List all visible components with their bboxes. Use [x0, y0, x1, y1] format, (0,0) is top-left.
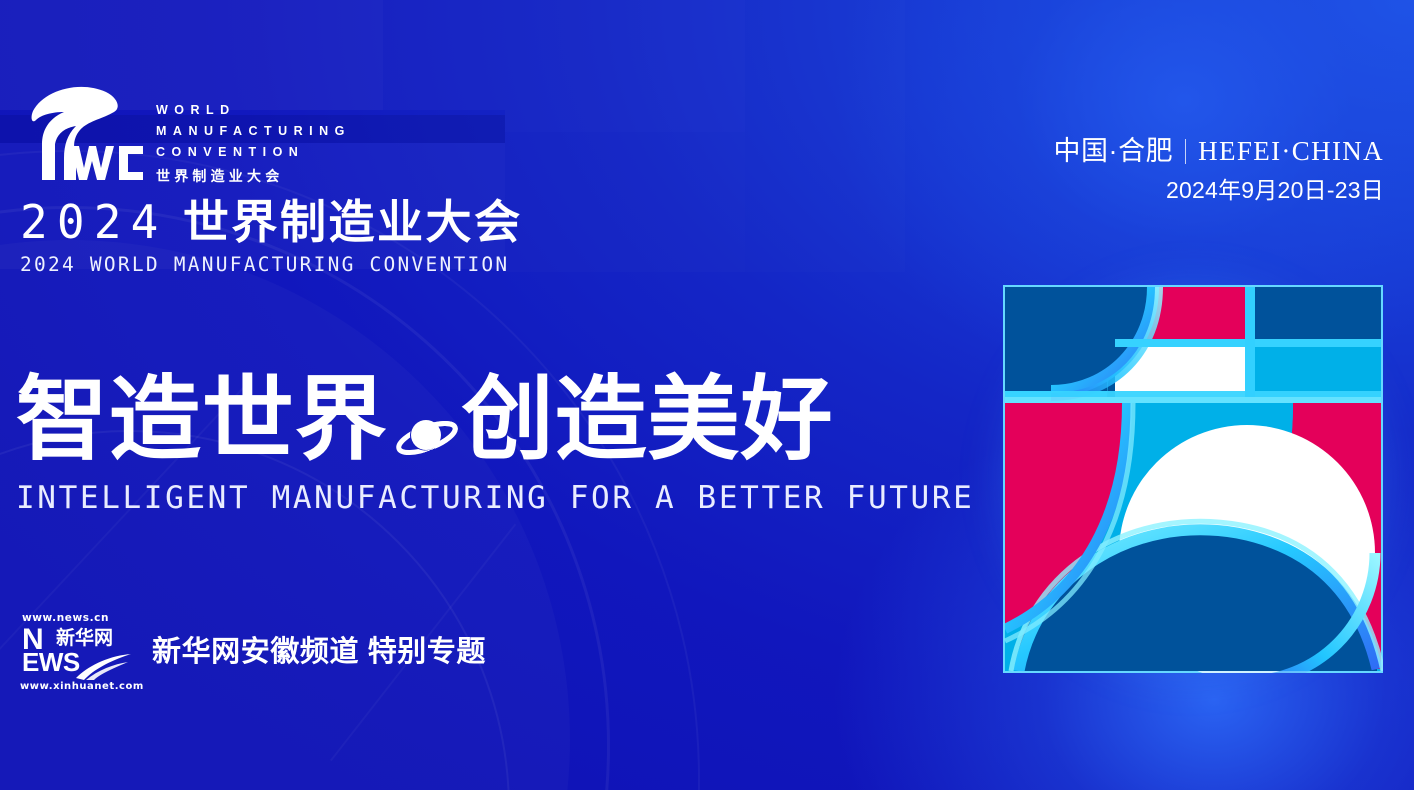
wmc-line-cn: 世界制造业大会 — [156, 163, 351, 187]
wmc-logo-lockup: WORLD MANUFACTURING CONVENTION 世界制造业大会 — [24, 84, 351, 187]
wmc-line-world: WORLD — [156, 100, 351, 121]
venue-city-en: HEFEI·CHINA — [1198, 136, 1384, 166]
bg-block-4 — [505, 0, 745, 132]
event-date: 2024年9月20日-23日 — [1053, 175, 1384, 205]
bg-block-2 — [383, 0, 505, 110]
xinhua-news-logo-icon: www.news.cn N EWS 新华网 www.xinhuanet.com — [20, 612, 130, 692]
xinhua-logo-core: N EWS 新华网 — [20, 626, 130, 676]
slogan-cn-right: 创造美好 — [462, 368, 834, 472]
poster-banner: WORLD MANUFACTURING CONVENTION 世界制造业大会 2… — [0, 0, 1414, 790]
event-title-en: 2024 WORLD MANUFACTURING CONVENTION — [20, 252, 523, 278]
event-year: 2024 — [20, 195, 168, 249]
planet-icon — [394, 387, 460, 453]
bg-block-7 — [745, 0, 905, 272]
wmc-line-convention: CONVENTION — [156, 142, 351, 163]
venue-date-block: 中国·合肥HEFEI·CHINA 2024年9月20日-23日 — [1053, 134, 1384, 205]
wmc-bird-logo-icon — [24, 84, 146, 184]
slogan-en: INTELLIGENT MANUFACTURING FOR A BETTER F… — [16, 478, 974, 518]
xinhua-url-bottom: www.xinhuanet.com — [20, 681, 144, 692]
venue-divider — [1185, 139, 1186, 164]
slogan-block: 智造世界 创造美好 INTELLIGENT MANUFACTURING FOR … — [16, 368, 974, 518]
slogan-cn: 智造世界 创造美好 — [16, 368, 974, 472]
wmc-geometric-emblem — [978, 258, 1408, 698]
xinhua-cn-name: 新华网 — [56, 628, 113, 649]
event-title-cn: 世界制造业大会 — [183, 196, 523, 248]
wmc-wordmark: WORLD MANUFACTURING CONVENTION 世界制造业大会 — [156, 84, 351, 187]
venue-line: 中国·合肥HEFEI·CHINA — [1053, 134, 1384, 168]
emblem-artwork — [1003, 285, 1383, 673]
xinhua-swoosh-icon — [76, 654, 132, 680]
slogan-cn-left: 智造世界 — [16, 368, 388, 472]
event-title: 2024 世界制造业大会 — [20, 196, 523, 248]
wmc-line-manufacturing: MANUFACTURING — [156, 121, 351, 142]
xinhua-footer: www.news.cn N EWS 新华网 www.xinhuanet.com … — [20, 612, 486, 692]
xinhua-channel-label: 新华网安徽频道 特别专题 — [152, 635, 486, 669]
bg-block-6 — [505, 132, 745, 272]
venue-city-cn: 中国·合肥 — [1053, 136, 1173, 166]
event-title-block: 2024 世界制造业大会 2024 WORLD MANUFACTURING CO… — [20, 196, 523, 278]
xinhua-letters-ews: EWS — [22, 650, 80, 674]
